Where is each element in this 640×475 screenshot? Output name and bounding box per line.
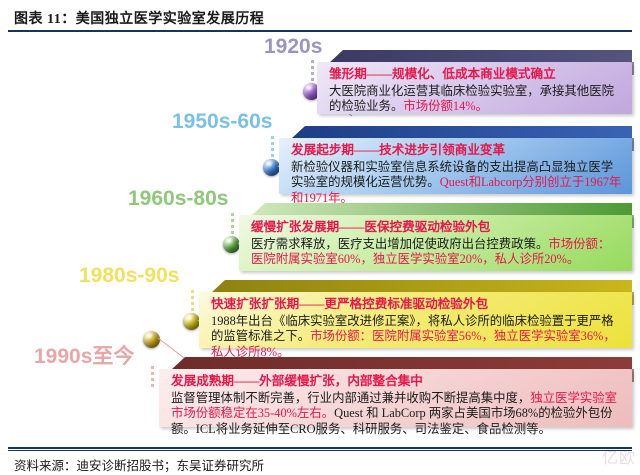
stage-panel-text-3: 缓慢扩张发展期——医保控费驱动检验外包 医疗需求释放，医疗支出增加促使政府出台控… [239, 215, 632, 271]
stage-body-5a: 监督管理体制不断完善，行业内部通过兼并收购不断提高集中度， [171, 391, 530, 405]
stage-panel-text-4: 快速扩张扩张期——更严格控费标准驱动检验外包 1988年出台《临床实验室改进修正… [199, 292, 632, 348]
stage-panel-text-1: 雏形期——规模化、低成本商业模式确立 大医院商业化运营其临床检验实验室，承接其他… [317, 62, 632, 114]
era-label-1920s: 1920s [264, 35, 322, 59]
connector-dots-2 [271, 136, 274, 158]
source-note: 资料来源：迪安诊断招股书；东吴证券研究所 [14, 455, 264, 474]
page-title: 图表 11：美国独立医学实验室发展历程 [14, 8, 264, 28]
era-label-1990s-now: 1990s至今 [34, 340, 134, 370]
stage-body-1b: 市场份额14%。 [403, 99, 488, 113]
stage-panel-text-5: 发展成熟期——外部缓慢扩张，内部整合集中 监督管理体制不断完善，行业内部通过兼并… [159, 369, 632, 427]
era-label-1950s-60s: 1950s-60s [172, 110, 272, 134]
connector-dots-4 [191, 290, 194, 312]
infographic-canvas: 图表 11：美国独立医学实验室发展历程 1920s 雏形期——规模化、低成本商业… [0, 0, 640, 475]
footer-divider-bottom [8, 450, 632, 451]
stage-heading-1: 雏形期——规模化、低成本商业模式确立 [329, 67, 622, 83]
era-label-1980s-90s: 1980s-90s [79, 264, 179, 288]
stage-heading-3: 缓慢扩张发展期——医保控费驱动检验外包 [251, 220, 622, 236]
connector-dots-1 [311, 60, 314, 82]
stage-panel-2: 发展起步期——技术进步引领商业变革 新检验仪器和实验室信息系统设备的支出提高凸显… [279, 138, 632, 194]
stage-panel-3: 缓慢扩张发展期——医保控费驱动检验外包 医疗需求释放，医疗支出增加促使政府出台控… [239, 215, 632, 271]
stage-heading-2: 发展起步期——技术进步引领商业变革 [291, 143, 622, 159]
stage-panel-5: 发展成熟期——外部缓慢扩张，内部整合集中 监督管理体制不断完善，行业内部通过兼并… [159, 369, 632, 427]
footer-divider-top [8, 447, 632, 449]
era-label-1960s-80s: 1960s-80s [128, 187, 228, 211]
stage-heading-5: 发展成熟期——外部缓慢扩张，内部整合集中 [171, 374, 622, 390]
stage-panel-text-2: 发展起步期——技术进步引领商业变革 新检验仪器和实验室信息系统设备的支出提高凸显… [279, 138, 632, 194]
connector-dots-5 [151, 366, 154, 388]
title-divider [8, 30, 632, 32]
stage-heading-4: 快速扩张扩张期——更严格控费标准驱动检验外包 [211, 297, 622, 313]
stage-body-3a: 医疗需求释放，医疗支出增加促使政府出台控费政策。 [251, 237, 548, 251]
stage-panel-1: 雏形期——规模化、低成本商业模式确立 大医院商业化运营其临床检验实验室，承接其他… [317, 62, 632, 114]
connector-dots-3 [231, 213, 234, 235]
stage-panel-4: 快速扩张扩张期——更严格控费标准驱动检验外包 1988年出台《临床实验室改进修正… [199, 292, 632, 348]
